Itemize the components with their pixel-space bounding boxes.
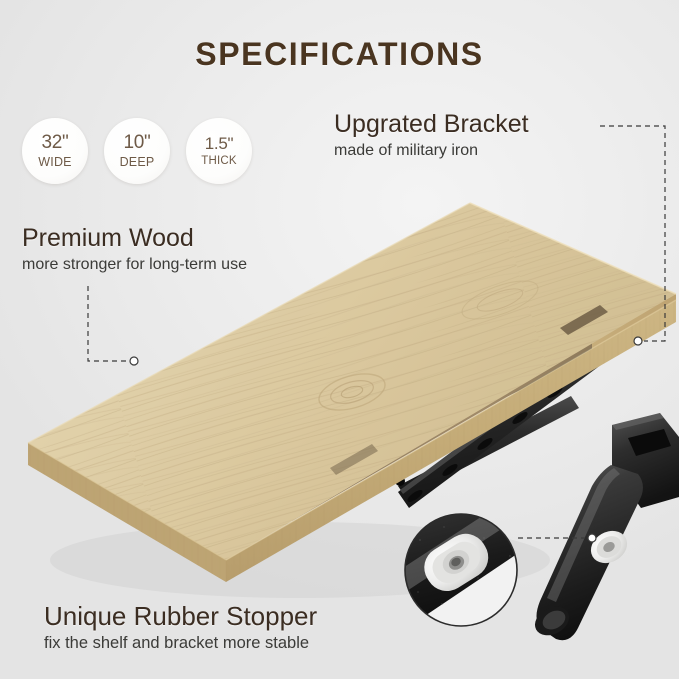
spec-badge-deep-label: DEEP (120, 156, 155, 169)
spec-badge-thick-label: THICK (201, 156, 237, 168)
specifications-infographic: SPECIFICATIONS 32" WIDE 10" DEEP 1.5" TH… (0, 0, 679, 679)
spec-badge-wide-label: WIDE (38, 156, 71, 169)
callout-stopper-subtitle: fix the shelf and bracket more stable (44, 633, 317, 654)
spec-badge-wide: 32" WIDE (22, 118, 88, 184)
spec-badge-wide-value: 32" (42, 133, 69, 152)
product-illustration (0, 0, 679, 679)
callout-wood-subtitle: more stronger for long-term use (22, 255, 247, 275)
spec-badge-deep-value: 10" (124, 133, 151, 152)
callout-stopper: Unique Rubber Stopper fix the shelf and … (44, 602, 317, 653)
callout-stopper-title: Unique Rubber Stopper (44, 602, 317, 631)
page-title: SPECIFICATIONS (0, 36, 679, 73)
callout-bracket: Upgrated Bracket made of military iron (334, 111, 529, 161)
callout-bracket-subtitle: made of military iron (334, 141, 529, 161)
callout-bracket-title: Upgrated Bracket (334, 111, 529, 139)
spec-badge-thick-value: 1.5" (205, 135, 233, 152)
callout-wood-title: Premium Wood (22, 225, 247, 253)
spec-badge-deep: 10" DEEP (104, 118, 170, 184)
bracket-detail-piece (530, 413, 679, 641)
callout-wood: Premium Wood more stronger for long-term… (22, 225, 247, 275)
spec-badge-thick: 1.5" THICK (186, 118, 252, 184)
